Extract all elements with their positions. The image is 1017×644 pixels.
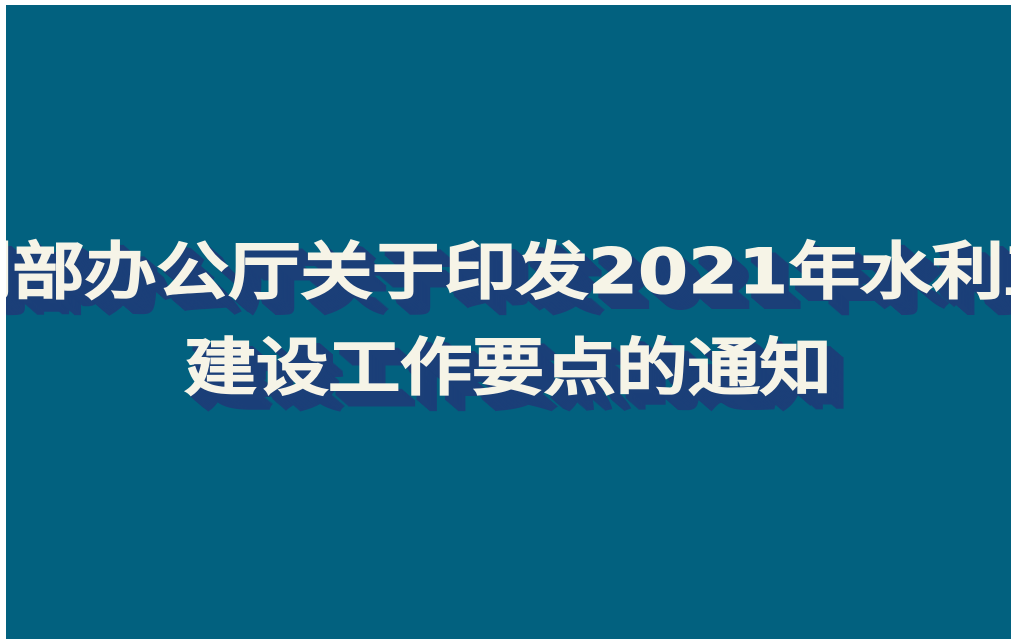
title-card-poster: 水利部办公厅关于印发2021年水利工程 建设工作要点的通知 (0, 0, 1017, 644)
page-title: 水利部办公厅关于印发2021年水利工程 建设工作要点的通知 (6, 241, 1011, 399)
title-line-1: 水利部办公厅关于印发2021年水利工程 (0, 241, 1017, 303)
title-line-2: 建设工作要点的通知 (185, 337, 832, 399)
